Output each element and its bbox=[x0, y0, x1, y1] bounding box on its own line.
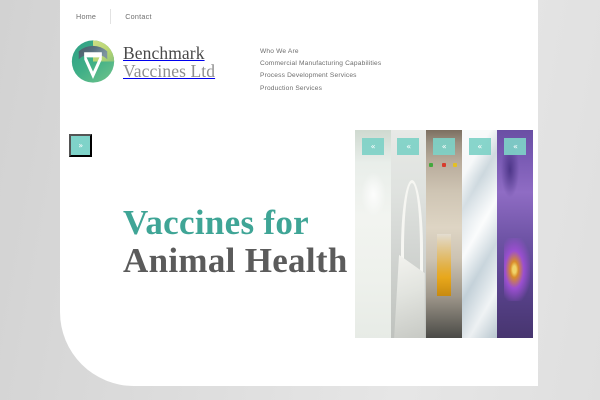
gallery-panel-arrow-5[interactable]: « bbox=[504, 138, 526, 155]
menu-item-commercial-manufacturing-capabilities[interactable]: Commercial Manufacturing Capabilities bbox=[260, 58, 381, 70]
brand-subname: Vaccines Ltd bbox=[123, 62, 215, 80]
indicator-light-green-icon bbox=[429, 163, 433, 167]
indicator-light-red-icon bbox=[442, 163, 446, 167]
hero-headline: Vaccines for Animal Health bbox=[123, 204, 348, 280]
hero-headline-line1: Vaccines for bbox=[123, 204, 348, 242]
gallery-panel-arrow-4[interactable]: « bbox=[469, 138, 491, 155]
gallery-image-protective-gown bbox=[462, 130, 498, 338]
topnav-divider bbox=[110, 9, 111, 24]
menu-item-process-development-services[interactable]: Process Development Services bbox=[260, 70, 381, 82]
gallery-image-bioreactor-column bbox=[426, 130, 462, 338]
double-chevron-right-icon: » bbox=[78, 142, 82, 150]
double-chevron-left-icon: « bbox=[442, 143, 446, 151]
gallery-panel-bioreactor-column[interactable]: « bbox=[426, 130, 462, 338]
gallery-panel-lab-wall[interactable]: « bbox=[355, 130, 391, 338]
menu-item-production-services[interactable]: Production Services bbox=[260, 83, 381, 95]
gallery-panel-arrow-2[interactable]: « bbox=[397, 138, 419, 155]
double-chevron-left-icon: « bbox=[371, 143, 375, 151]
top-utility-nav: Home Contact bbox=[76, 8, 166, 25]
indicator-light-yellow-icon bbox=[453, 163, 457, 167]
gallery-image-lab-wall bbox=[355, 130, 391, 338]
carousel-prev-button[interactable]: » bbox=[69, 134, 92, 157]
gallery-panel-protective-gown[interactable]: « bbox=[462, 130, 498, 338]
gallery-panel-arrow-1[interactable]: « bbox=[362, 138, 384, 155]
brand-logo-link[interactable]: Benchmark Vaccines Ltd bbox=[70, 38, 215, 85]
menu-item-who-we-are[interactable]: Who We Are bbox=[260, 46, 381, 58]
double-chevron-left-icon: « bbox=[406, 143, 410, 151]
gallery-image-violet-flame bbox=[497, 130, 533, 338]
double-chevron-left-icon: « bbox=[477, 143, 481, 151]
brand-name: Benchmark bbox=[123, 44, 215, 62]
gallery-image-tubing-gown bbox=[391, 130, 427, 338]
main-menu: Who We Are Commercial Manufacturing Capa… bbox=[260, 46, 381, 95]
topnav-item-home[interactable]: Home bbox=[76, 8, 110, 25]
double-chevron-left-icon: « bbox=[513, 143, 517, 151]
website-page: Home Contact bbox=[60, 0, 538, 386]
topnav-item-contact[interactable]: Contact bbox=[125, 8, 166, 25]
hero-image-strip: « « « « bbox=[355, 130, 533, 338]
gallery-panel-tubing-gown[interactable]: « bbox=[391, 130, 427, 338]
gallery-panel-violet-flame[interactable]: « bbox=[497, 130, 533, 338]
benchmark-circle-logo-icon bbox=[70, 38, 116, 85]
hero-headline-line2: Animal Health bbox=[123, 242, 348, 280]
gallery-panel-arrow-3[interactable]: « bbox=[433, 138, 455, 155]
brand-wordmark: Benchmark Vaccines Ltd bbox=[123, 43, 215, 80]
